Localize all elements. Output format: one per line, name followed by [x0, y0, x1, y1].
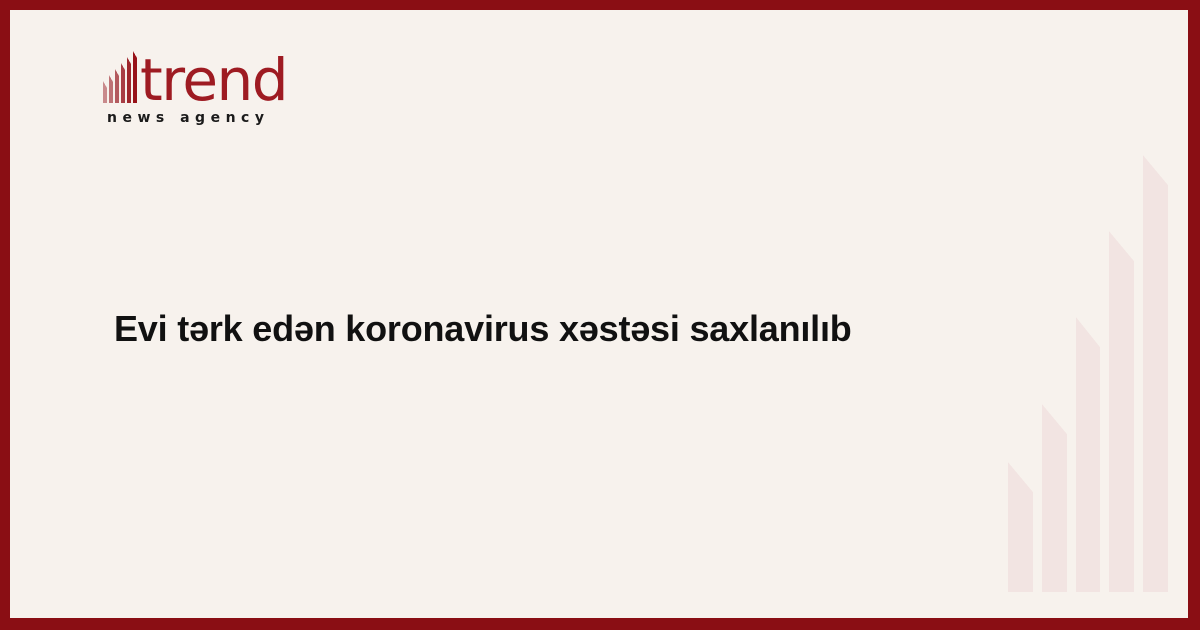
- watermark-bar-2: [1042, 434, 1067, 592]
- logo-bar-5: [127, 64, 131, 103]
- watermark-bar-1: [1008, 492, 1033, 592]
- watermark-bar-3: [1076, 347, 1101, 592]
- logo-bar-4: [121, 70, 125, 103]
- logo-bar-1: [103, 88, 107, 103]
- logo-tagline: news agency: [107, 110, 423, 126]
- card-content-area: trend news agency Evi tərk edən koronavi…: [10, 10, 1188, 618]
- ascending-bars-icon: [103, 57, 137, 103]
- logo-wordmark-row: trend: [103, 48, 423, 106]
- article-headline: Evi tərk edən koronavirus xəstəsi saxlan…: [114, 306, 934, 353]
- watermark-bar-4: [1109, 261, 1134, 592]
- logo-bar-2: [109, 82, 113, 103]
- ascending-bars-watermark: [1008, 162, 1168, 592]
- logo-wordmark: trend: [140, 56, 287, 106]
- social-share-card: trend news agency Evi tərk edən koronavi…: [0, 0, 1200, 630]
- logo-bar-6: [133, 58, 137, 103]
- watermark-bar-5: [1143, 185, 1168, 592]
- logo-bar-3: [115, 76, 119, 103]
- brand-logo: trend news agency: [103, 48, 423, 126]
